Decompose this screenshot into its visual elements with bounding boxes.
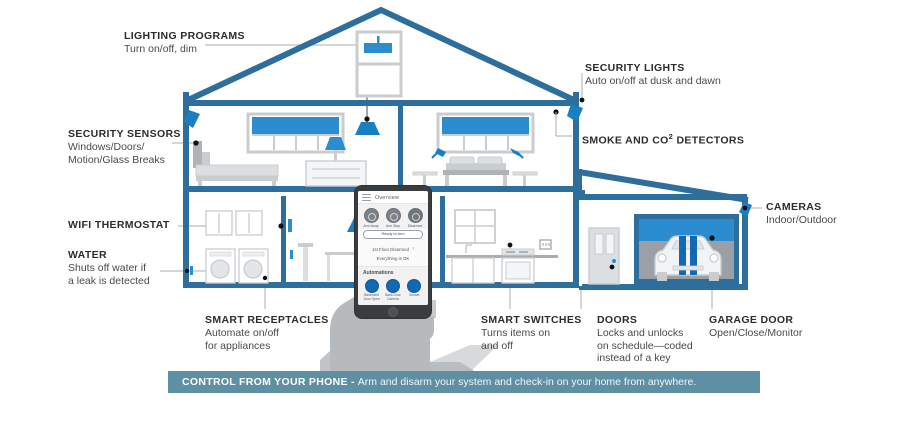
callout-heading: SMART SWITCHES <box>481 314 582 327</box>
interior-wall-upper <box>398 106 403 186</box>
wall-mid-lower <box>573 192 579 288</box>
callout-sub-line1: Automate on/off <box>205 327 329 340</box>
system-ok-label: Everything is OK <box>358 254 428 266</box>
smart-home-illustration <box>0 0 900 432</box>
callout-doors: DOORS Locks and unlocks on schedule—code… <box>597 314 693 365</box>
callout-sub-line1: Shuts off water if <box>68 262 150 275</box>
automations-header: Automations <box>361 270 425 279</box>
right-bedroom <box>413 109 559 186</box>
diagram-canvas: LIGHTING PROGRAMS Turn on/off, dim SECUR… <box>0 0 900 432</box>
arm-stay-button[interactable]: Arm Stay <box>384 208 403 228</box>
shield-disarm-icon <box>408 208 423 223</box>
automation-back-door-camera[interactable]: Back Door Camera <box>383 279 403 302</box>
callout-heading: SECURITY LIGHTS <box>585 62 721 75</box>
callout-security-lights: SECURITY LIGHTS Auto on/off at dusk and … <box>585 62 721 88</box>
left-bedroom <box>184 110 380 186</box>
shield-stay-icon <box>386 208 401 223</box>
automation-sunset[interactable]: Sunset <box>404 279 424 302</box>
callout-sub: Indoor/Outdoor <box>766 214 837 227</box>
hamburger-icon[interactable] <box>362 194 371 201</box>
callout-smart-receptacles: SMART RECEPTACLES Automate on/off for ap… <box>205 314 329 352</box>
garage-slab <box>579 284 748 290</box>
floor-status-label: 1st Floor Disarmed <box>372 247 409 252</box>
callout-water: WATER Shuts off water if a leak is detec… <box>68 249 150 287</box>
floor-status-row[interactable]: 1st Floor Disarmed › <box>358 243 428 254</box>
security-light-icon <box>567 104 583 122</box>
garage-bay <box>634 214 739 284</box>
callout-heading: WATER <box>68 249 150 262</box>
callout-sub: Auto on/off at dusk and dawn <box>585 75 721 88</box>
arm-away-button[interactable]: Arm Away <box>362 208 381 228</box>
smoke-co2-pre: SMOKE AND CO <box>582 135 669 147</box>
callout-sub-line1: Windows/Doors/ <box>68 141 181 154</box>
callout-sub-line2: on schedule—coded <box>597 340 693 353</box>
callout-sub: Turn on/off, dim <box>124 43 245 56</box>
callout-security-sensors: SECURITY SENSORS Windows/Doors/ Motion/G… <box>68 128 181 166</box>
banner-strong-text: CONTROL FROM YOUR PHONE - <box>182 376 355 388</box>
automation-label-line1: Sunset <box>404 294 424 298</box>
home-button[interactable] <box>388 307 398 317</box>
callout-cameras: CAMERAS Indoor/Outdoor <box>766 201 837 227</box>
automation-icon <box>407 279 421 293</box>
automation-label-line2: Door Open <box>362 298 382 302</box>
automation-icon <box>386 279 400 293</box>
automation-label-line2: Camera <box>383 298 403 302</box>
laundry-room <box>185 211 292 283</box>
app-title: Overview <box>375 195 399 201</box>
garage-ceiling <box>579 194 747 200</box>
callout-sub-line3: instead of a key <box>597 352 693 365</box>
automations-row: Basement Door Open Back Door Camera Suns… <box>361 279 425 302</box>
arm-away-label: Arm Away <box>362 224 381 228</box>
attic-window <box>357 32 401 96</box>
callout-sub: Open/Close/Monitor <box>709 327 802 340</box>
callout-heading: SMOKE AND CO2 DETECTORS <box>582 130 744 148</box>
ready-to-arm-pill[interactable]: Ready to Arm <box>363 230 423 239</box>
callout-garage-door: GARAGE DOOR Open/Close/Monitor <box>709 314 802 340</box>
attic-floor <box>183 100 579 106</box>
smartphone[interactable]: Overview Arm Away Arm Stay Disarmed Read… <box>355 186 431 318</box>
disarmed-label: Disarmed <box>406 224 425 228</box>
interior-wall-laundry <box>281 196 286 282</box>
callout-heading: GARAGE DOOR <box>709 314 802 327</box>
callout-heading: SECURITY SENSORS <box>68 128 181 141</box>
automation-basement-door[interactable]: Basement Door Open <box>362 279 382 302</box>
wall-left-lower <box>183 192 189 288</box>
callout-smart-switches: SMART SWITCHES Turns items on and off <box>481 314 582 352</box>
disarmed-button[interactable]: Disarmed <box>406 208 425 228</box>
phone-screen[interactable]: Overview Arm Away Arm Stay Disarmed Read… <box>358 191 428 305</box>
automation-icon <box>365 279 379 293</box>
callout-sub-line2: a leak is detected <box>68 275 150 288</box>
callout-lighting-programs: LIGHTING PROGRAMS Turn on/off, dim <box>124 30 245 56</box>
callout-wifi-thermostat: WIFI THERMOSTAT <box>68 219 170 232</box>
callout-heading: SMART RECEPTACLES <box>205 314 329 327</box>
callout-sub-line2: for appliances <box>205 340 329 353</box>
callout-smoke-co2-detectors: SMOKE AND CO2 DETECTORS <box>582 130 744 148</box>
automations-section: Automations Basement Door Open Back Door… <box>358 266 428 305</box>
entry-door <box>589 228 619 284</box>
chevron-right-icon: › <box>412 247 414 251</box>
shield-away-icon <box>364 208 379 223</box>
callout-heading: DOORS <box>597 314 693 327</box>
callout-sub-line1: Turns items on <box>481 327 582 340</box>
kitchen <box>446 210 558 283</box>
smoke-co2-post: DETECTORS <box>673 135 744 147</box>
control-from-phone-banner: CONTROL FROM YOUR PHONE - Arm and disarm… <box>168 371 760 393</box>
arm-mode-row: Arm Away Arm Stay Disarmed <box>358 204 428 229</box>
callout-sub-line1: Locks and unlocks <box>597 327 693 340</box>
arm-stay-label: Arm Stay <box>384 224 403 228</box>
callout-heading: LIGHTING PROGRAMS <box>124 30 245 43</box>
interior-wall-kitchen <box>440 196 445 282</box>
banner-body-text: Arm and disarm your system and check-in … <box>358 376 696 388</box>
callout-sub-line2: and off <box>481 340 582 353</box>
callout-heading: WIFI THERMOSTAT <box>68 219 170 232</box>
callout-sub-line2: Motion/Glass Breaks <box>68 154 181 167</box>
app-header: Overview <box>358 191 428 204</box>
callout-heading: CAMERAS <box>766 201 837 214</box>
